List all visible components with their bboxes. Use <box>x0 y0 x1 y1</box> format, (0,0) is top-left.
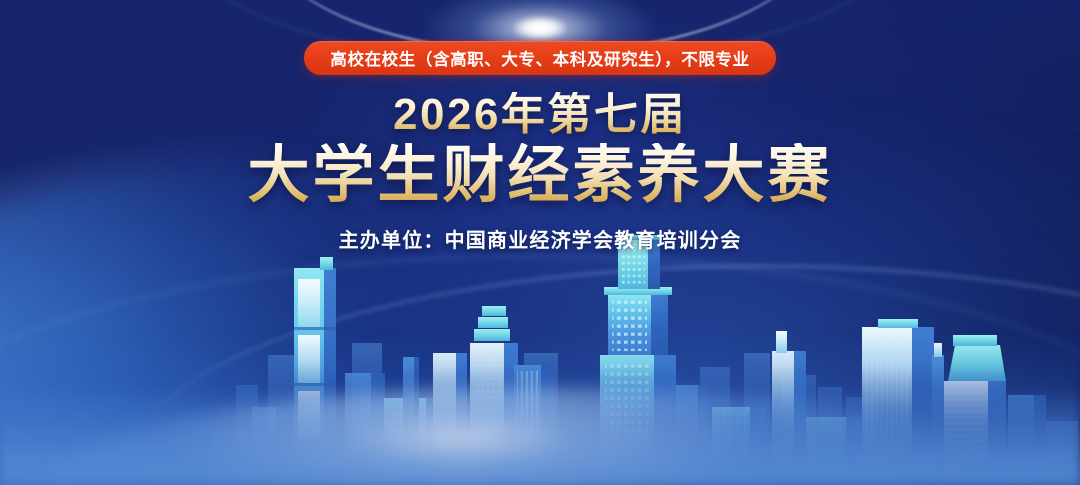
building-crown-tower <box>940 335 1006 485</box>
building-antenna-tower <box>772 331 806 485</box>
building-grid-low-right <box>712 407 766 485</box>
building-slab-tower <box>294 257 336 485</box>
building-flat-right <box>676 385 708 485</box>
building-teal-slab <box>806 417 862 485</box>
building-left-edge-b <box>214 431 250 485</box>
building-broad-tower <box>862 319 934 485</box>
city-skyline-illustration <box>0 235 1080 485</box>
building-stepped-tower <box>470 306 518 485</box>
building-box-left <box>345 373 385 485</box>
eligibility-badge[interactable]: 高校在校生（含高职、大专、本科及研究生），不限专业 <box>304 41 775 75</box>
building-left-edge-a <box>252 407 286 485</box>
event-edition-title: 2026年第七届 <box>393 92 687 139</box>
building-narrow-tower <box>403 357 419 485</box>
event-main-title: 大学生财经素养大赛 <box>247 143 832 209</box>
building-small-antenna <box>932 343 944 485</box>
building-pale-slim <box>433 353 467 485</box>
building-right-edge-b <box>1046 421 1078 485</box>
building-right-edge-a <box>1008 395 1046 485</box>
building-stripe-block <box>514 365 554 485</box>
title-block: 2026年第七届 大学生财经素养大赛 <box>247 75 832 208</box>
top-light-core-decor <box>513 16 567 40</box>
promotional-banner: 高校在校生（含高职、大专、本科及研究生），不限专业 2026年第七届 大学生财经… <box>0 0 1080 485</box>
building-landmark-tower <box>600 235 676 485</box>
